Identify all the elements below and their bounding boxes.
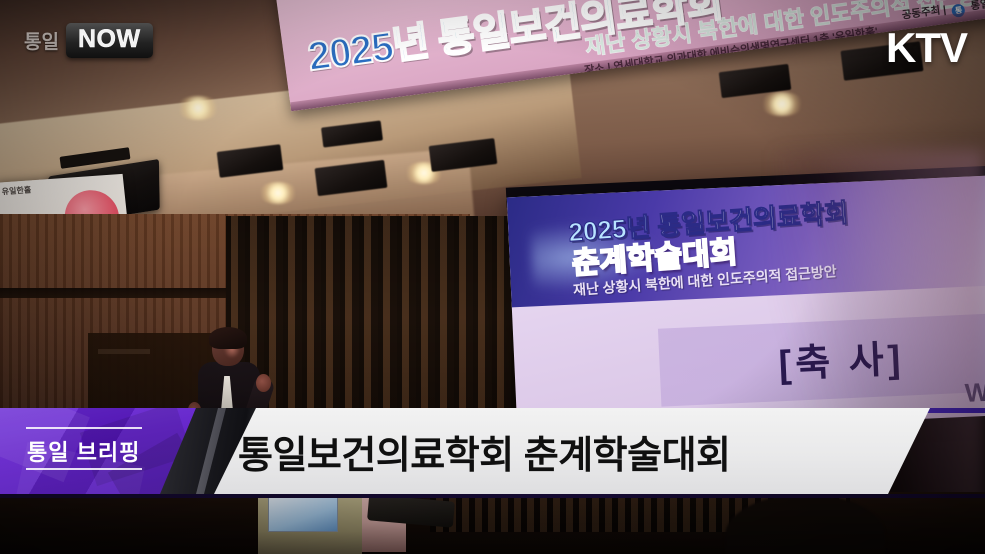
program-bug-label: 통일	[24, 27, 59, 54]
headline-bar: 통일보건의료학회 춘계학술대회	[214, 408, 930, 494]
broadcast-frame: 유일한홀 AVISON BIOMEDICAL 2025년 통일보건의료학회 춘계…	[0, 0, 985, 554]
ceiling-spotlight	[258, 182, 298, 204]
headline-text: 통일보건의료학회 춘계학술대회	[238, 424, 731, 479]
lower-third: 통일 브리핑 통일보건의료학회 춘계학술대회	[0, 408, 985, 494]
lower-third-bottom-accent	[0, 494, 985, 498]
speaker-hair	[209, 327, 247, 349]
ceiling-spotlight	[176, 96, 220, 120]
channel-logo: KTV	[886, 24, 967, 72]
badge-rule-top	[26, 427, 142, 429]
speaker-hand-right	[256, 374, 271, 392]
program-bug: 통일 NOW	[24, 22, 153, 58]
wall-display-top-label: 유일한홀	[1, 184, 32, 197]
ceiling-spotlight	[760, 92, 804, 116]
podium-monitor	[268, 494, 338, 532]
category-badge-label: 통일 브리핑	[27, 435, 140, 467]
program-bug-now-badge: NOW	[66, 23, 153, 58]
wall-door-handle	[98, 349, 150, 354]
badge-rule-bottom	[26, 468, 142, 470]
event-banner-year: 2025년	[305, 20, 431, 80]
